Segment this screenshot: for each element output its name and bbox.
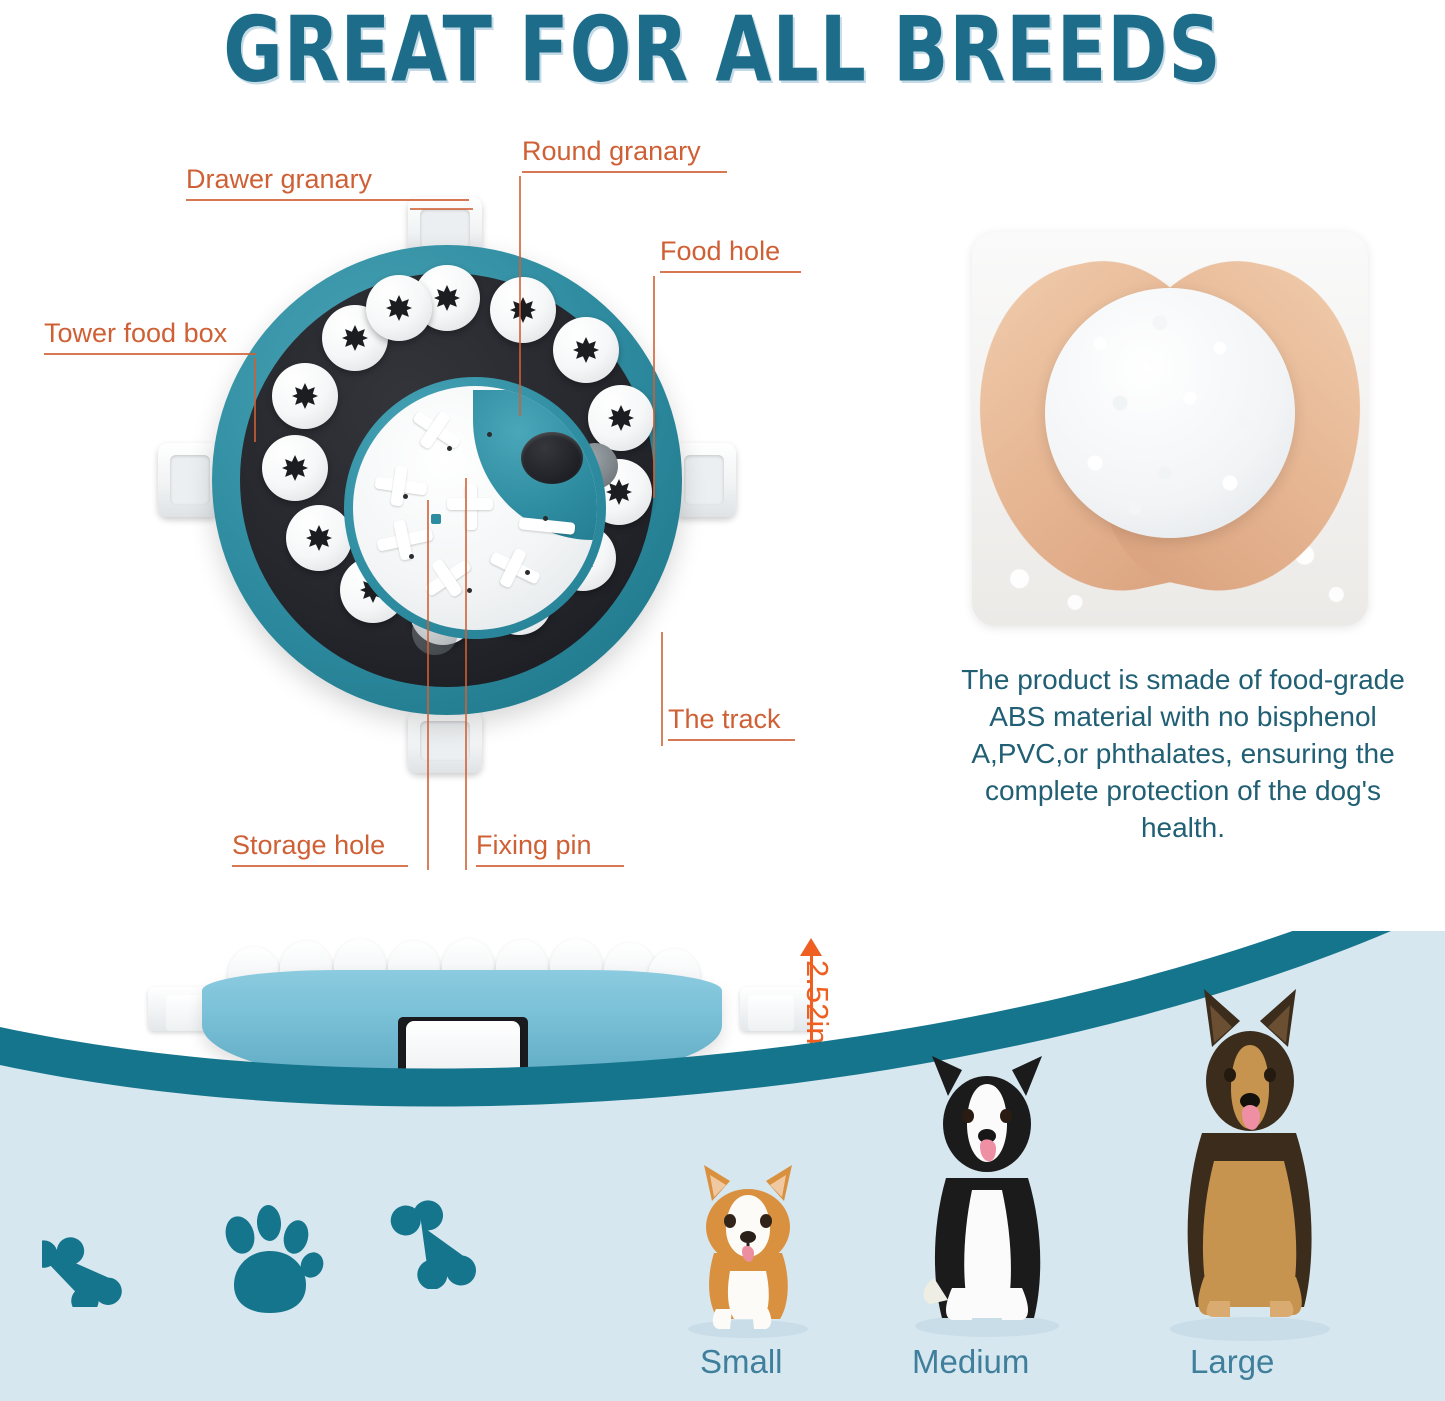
leader-the-track bbox=[661, 632, 663, 746]
leader-tower-food-box bbox=[254, 358, 256, 442]
callout-underline bbox=[186, 199, 469, 201]
leader-food-hole bbox=[653, 276, 655, 498]
callout-the-track: The track bbox=[668, 706, 795, 741]
storage-tab-right bbox=[674, 443, 736, 517]
callout-fixing-pin: Fixing pin bbox=[476, 832, 624, 867]
round-granary-hole bbox=[521, 432, 583, 484]
callout-round-granary-label: Round granary bbox=[522, 138, 727, 165]
fixing-pin bbox=[447, 498, 493, 510]
tower-food-box bbox=[588, 385, 654, 451]
pin-dot bbox=[447, 446, 452, 451]
tower-food-box bbox=[286, 505, 352, 571]
callout-tower-food-box-label: Tower food box bbox=[44, 320, 256, 347]
leader-round-granary bbox=[519, 176, 521, 416]
round-granary-disc bbox=[353, 386, 597, 630]
product-top-view bbox=[150, 175, 740, 795]
leader-drawer-granary bbox=[410, 208, 473, 210]
leader-fixing-pin bbox=[465, 478, 467, 870]
pin-dot bbox=[409, 554, 414, 559]
storage-tab-bottom bbox=[408, 711, 482, 773]
callout-underline bbox=[476, 865, 624, 867]
size-label-small: Small bbox=[700, 1343, 783, 1381]
paw-print-icon bbox=[210, 1199, 332, 1321]
track-ring bbox=[240, 273, 654, 687]
pin-dot bbox=[487, 432, 492, 437]
storage-tab-left bbox=[158, 443, 220, 517]
dog-small-corgi bbox=[668, 1153, 828, 1343]
page-title: GREAT FOR ALL BREEDS bbox=[223, 0, 1221, 102]
pin-dot bbox=[467, 588, 472, 593]
pin-dot bbox=[525, 570, 530, 575]
size-label-medium: Medium bbox=[912, 1343, 1029, 1381]
callout-underline bbox=[232, 865, 408, 867]
callout-storage-hole-label: Storage hole bbox=[232, 832, 408, 859]
callout-underline bbox=[522, 171, 727, 173]
callout-round-granary: Round granary bbox=[522, 138, 727, 173]
callout-the-track-label: The track bbox=[668, 706, 795, 733]
tower-food-box bbox=[490, 277, 556, 343]
dog-medium-border-collie bbox=[896, 1040, 1078, 1340]
callout-drawer-granary: Drawer granary bbox=[186, 166, 410, 201]
tower-food-box bbox=[366, 275, 432, 341]
infographic-canvas: GREAT FOR ALL BREEDS bbox=[0, 0, 1445, 1401]
callout-food-hole: Food hole bbox=[660, 238, 801, 273]
callout-drawer-granary-label: Drawer granary bbox=[186, 166, 410, 193]
abs-pellet-mound bbox=[1045, 288, 1295, 538]
dog-large-german-shepherd bbox=[1152, 985, 1348, 1343]
callout-food-hole-label: Food hole bbox=[660, 238, 801, 265]
bone-icon bbox=[390, 1193, 518, 1289]
callout-fixing-pin-label: Fixing pin bbox=[476, 832, 624, 859]
page-title-banner: GREAT FOR ALL BREEDS bbox=[0, 0, 1445, 100]
callout-tower-food-box: Tower food box bbox=[44, 320, 256, 355]
pin-dot bbox=[543, 516, 548, 521]
bowl-outer-ring bbox=[212, 245, 682, 715]
tower-food-box bbox=[553, 317, 619, 383]
abs-material-photo bbox=[972, 232, 1368, 626]
leader-storage-hole bbox=[427, 500, 429, 870]
callout-underline bbox=[44, 353, 256, 355]
pin-dot bbox=[403, 494, 408, 499]
size-label-large: Large bbox=[1190, 1343, 1274, 1381]
bone-icon bbox=[42, 1221, 160, 1307]
material-description: The product is smade of food-grade ABS m… bbox=[948, 662, 1418, 847]
tower-food-box bbox=[272, 363, 338, 429]
fixing-pin-marker bbox=[431, 514, 441, 524]
callout-storage-hole: Storage hole bbox=[232, 832, 408, 867]
callout-underline bbox=[660, 271, 801, 273]
tower-food-box bbox=[262, 435, 328, 501]
callout-underline bbox=[668, 739, 795, 741]
